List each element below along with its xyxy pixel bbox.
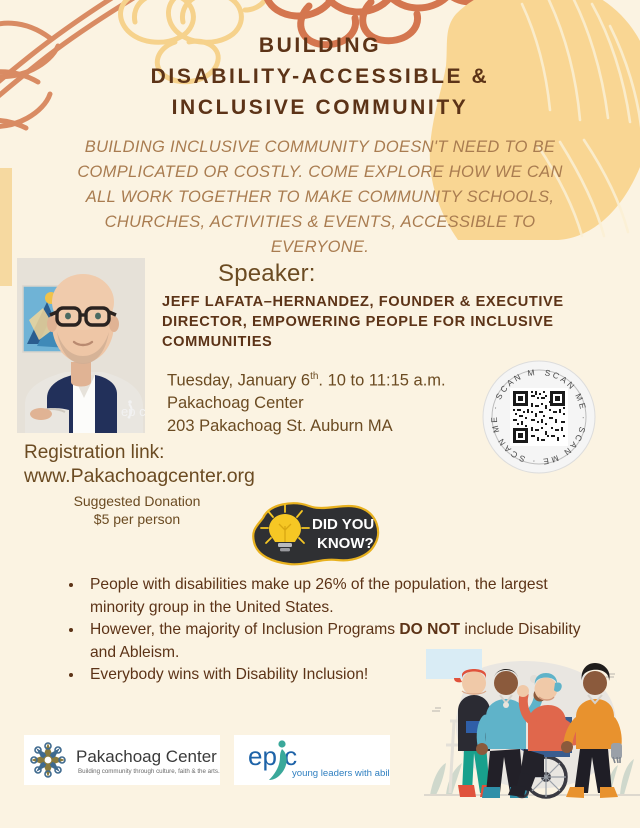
- event-date-suffix: . 10 to 11:15 a.m.: [318, 372, 445, 390]
- speaker-bio: JEFF LAFATA–HERNANDEZ, FOUNDER & EXECUTI…: [162, 292, 582, 352]
- svg-text:ep c: ep c: [121, 404, 145, 419]
- donation-amount: $5 per person: [42, 510, 232, 528]
- headline-line-2: DISABILITY-ACCESSIBLE &: [0, 61, 640, 92]
- list-item: People with disabilities make up 26% of …: [84, 574, 604, 619]
- suggested-donation: Suggested Donation $5 per person: [42, 492, 232, 528]
- logo-epic: ep c young leaders with ability: [234, 735, 390, 785]
- qr-code-badge[interactable]: SCAN ME · SCAN ME · SCAN ME · SCAN ME ·: [482, 360, 596, 474]
- event-date-line: Tuesday, January 6th. 10 to 11:15 a.m.: [167, 366, 497, 392]
- dyk-line-2: KNOW?: [317, 535, 374, 552]
- fact-text: However, the majority of Inclusion Progr…: [90, 621, 399, 638]
- dyk-line-1: DID YOU: [312, 516, 374, 533]
- people-illustration: [424, 645, 640, 802]
- donation-label: Suggested Donation: [42, 492, 232, 510]
- event-venue: Pakachoag Center: [167, 392, 497, 415]
- pakachoag-logo-name: Pakachoag Center: [76, 747, 217, 766]
- fact-text: People with disabilities make up 26% of …: [90, 576, 548, 616]
- registration-label: Registration link:: [24, 441, 164, 465]
- flyer-page: BUILDING DISABILITY-ACCESSIBLE & INCLUSI…: [0, 0, 640, 828]
- fact-emphasis: DO NOT: [399, 621, 460, 638]
- speaker-label: Speaker:: [218, 260, 316, 288]
- headline-line-3: INCLUSIVE COMMUNITY: [0, 92, 640, 123]
- epic-logo-name: ep c: [248, 741, 297, 771]
- event-address: 203 Pakachoag St. Auburn MA: [167, 415, 497, 438]
- headline-line-1: BUILDING: [0, 30, 640, 61]
- logo-pakachoag-center: Pakachoag Center Building community thro…: [24, 735, 220, 785]
- registration-link[interactable]: www.Pakachoagcenter.org: [24, 465, 255, 488]
- intro-paragraph: BUILDING INCLUSIVE COMMUNITY DOESN'T NEE…: [70, 135, 570, 260]
- did-you-know-badge: DID YOU KNOW?: [249, 500, 382, 567]
- fact-text: Everybody wins with Disability Inclusion…: [90, 666, 368, 683]
- speaker-photo: ep c: [17, 258, 145, 433]
- pakachoag-logo-tagline: Building community through culture, fait…: [78, 768, 220, 775]
- event-date-prefix: Tuesday, January 6: [167, 372, 310, 390]
- event-details: Tuesday, January 6th. 10 to 11:15 a.m. P…: [167, 366, 497, 437]
- epic-logo-tagline: young leaders with ability: [292, 768, 390, 779]
- page-title: BUILDING DISABILITY-ACCESSIBLE & INCLUSI…: [0, 30, 640, 123]
